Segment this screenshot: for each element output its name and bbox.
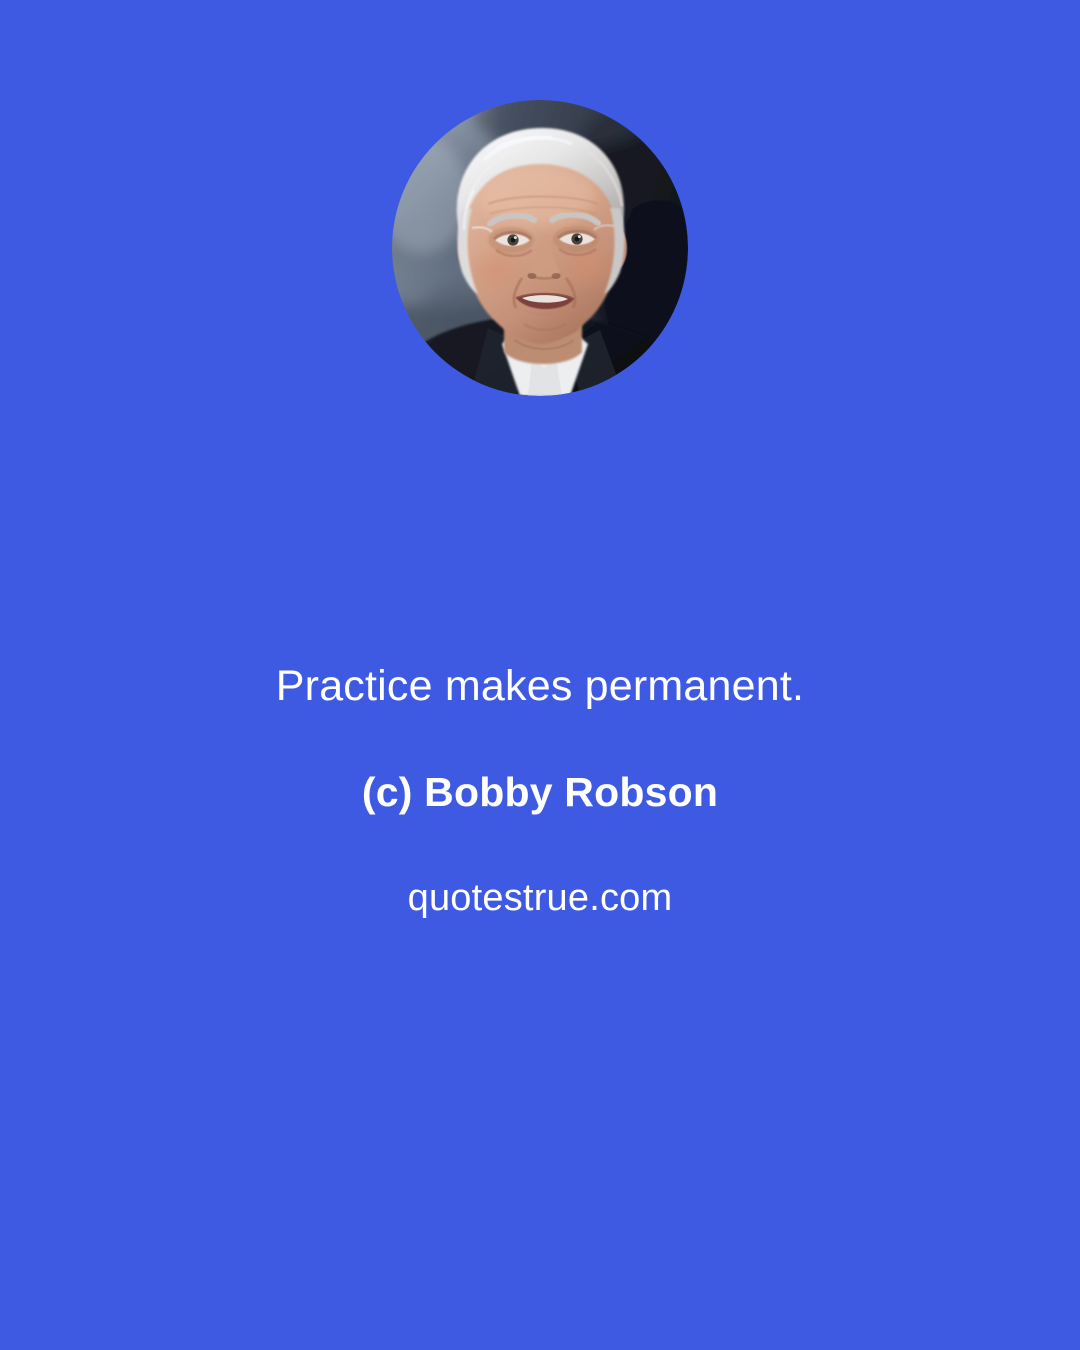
quote-text-block: Practice makes permanent. (c) Bobby Robs… <box>0 660 1080 921</box>
author-portrait-illustration <box>392 100 688 396</box>
quote-attribution: (c) Bobby Robson <box>0 712 1080 817</box>
quote-text: Practice makes permanent. <box>0 660 1080 712</box>
website-label: quotestrue.com <box>0 818 1080 922</box>
author-portrait-avatar <box>392 100 688 396</box>
quote-card: Practice makes permanent. (c) Bobby Robs… <box>0 0 1080 1350</box>
